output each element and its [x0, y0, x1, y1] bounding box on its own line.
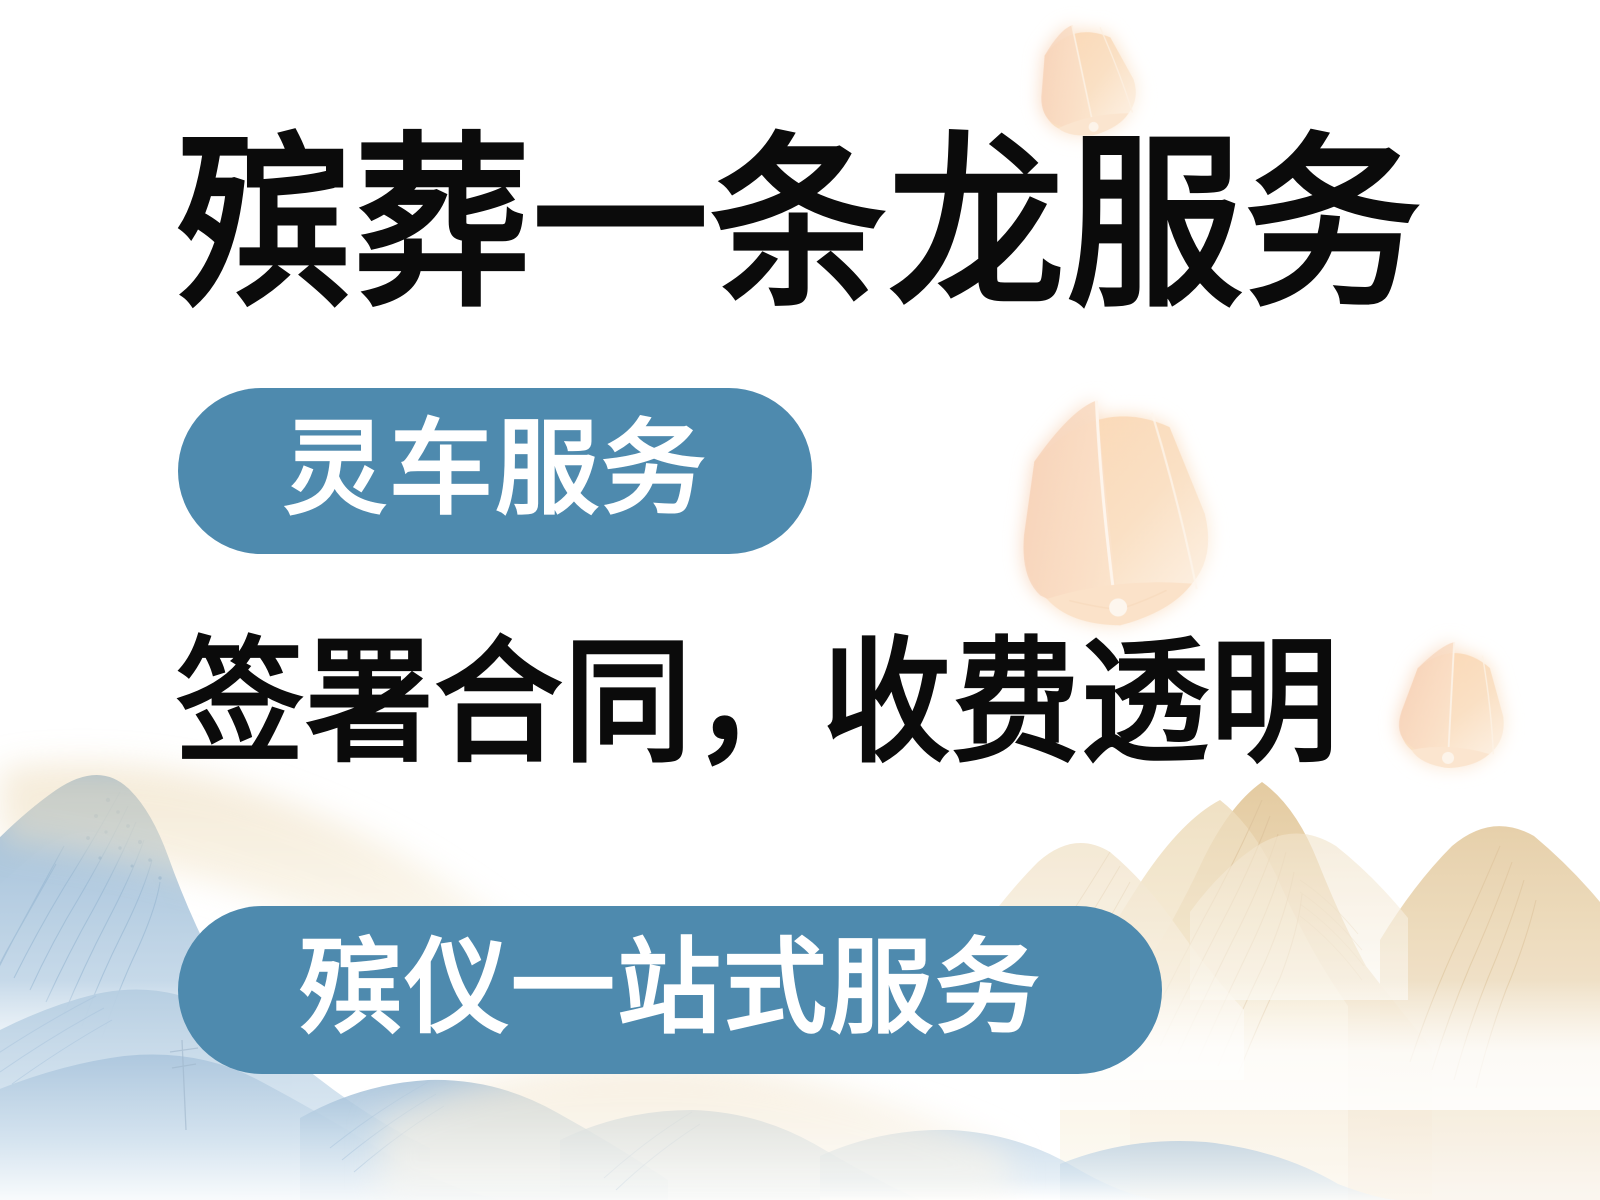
sky-lantern-large-mid	[1008, 390, 1216, 634]
badge-one-stop-funeral-label: 殡仪一站式服务	[299, 936, 1042, 1040]
pole-detail	[170, 1040, 198, 1130]
badge-one-stop-funeral[interactable]: 殡仪一站式服务	[178, 906, 1162, 1074]
badge-hearse-service[interactable]: 灵车服务	[178, 388, 812, 554]
promo-banner: 殡葬一条龙服务 灵车服务 签署合同，收费透明 殡仪一站式服务	[0, 0, 1600, 1200]
badge-hearse-service-label: 灵车服务	[283, 417, 707, 521]
subtitle-contract-transparency: 签署合同，收费透明	[176, 636, 1376, 772]
sky-lantern-small-right	[1397, 639, 1508, 770]
page-title: 殡葬一条龙服务	[176, 134, 1436, 321]
valley-haze	[380, 1063, 1010, 1200]
